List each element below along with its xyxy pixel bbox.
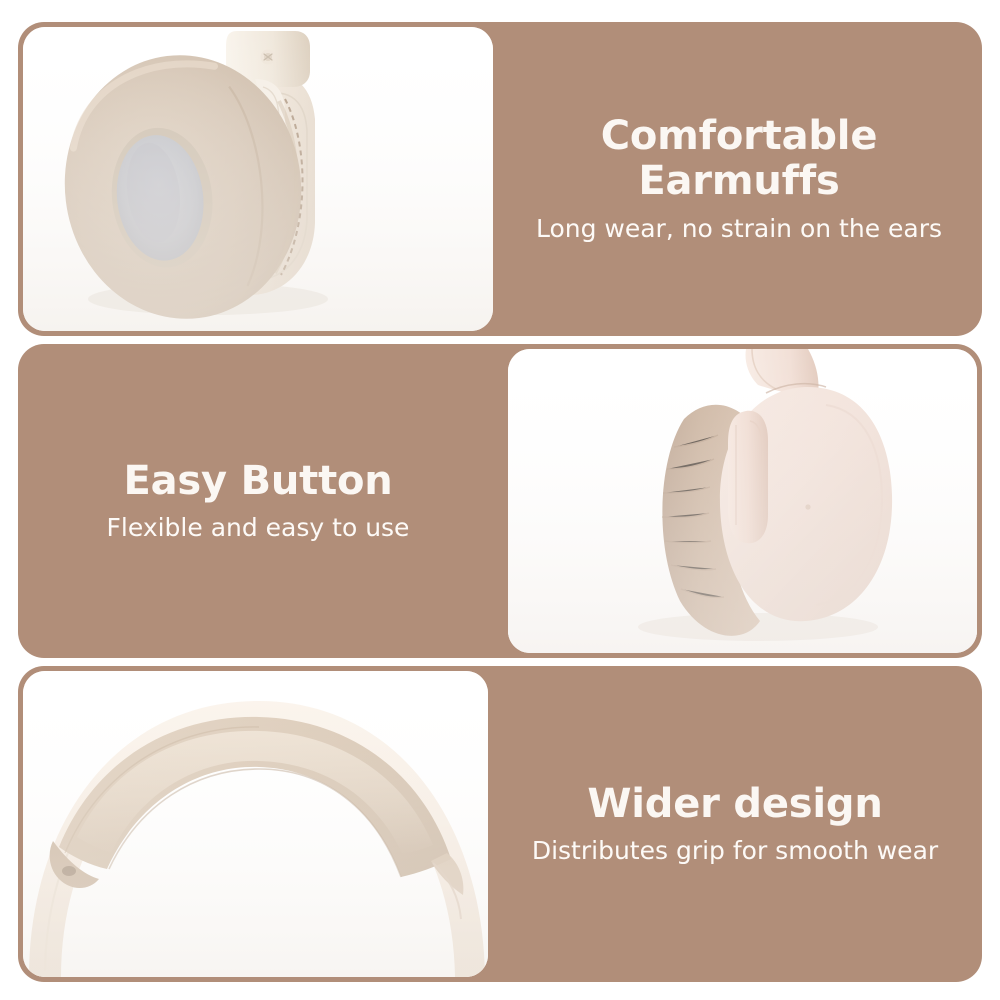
product-photo-earcup-inner (23, 27, 493, 331)
feature-title-wider-design: Wider design (488, 782, 982, 827)
feature-panel-easy-button: Easy Button Flexible and easy to use (18, 344, 982, 658)
feature-subtitle-comfortable-earmuffs: Long wear, no strain on the ears (496, 214, 982, 244)
earcup-inner-illustration (23, 27, 493, 331)
feature-subtitle-easy-button: Flexible and easy to use (18, 513, 498, 543)
feature-text-easy-button: Easy Button Flexible and easy to use (18, 344, 498, 658)
feature-text-wider-design: Wider design Distributes grip for smooth… (488, 666, 982, 982)
infographic-canvas: Comfortable Earmuffs Long wear, no strai… (0, 0, 1000, 1000)
feature-text-comfortable-earmuffs: Comfortable Earmuffs Long wear, no strai… (496, 22, 982, 336)
earcup-button-illustration (508, 349, 977, 653)
product-photo-earcup-button (508, 349, 977, 653)
feature-subtitle-wider-design: Distributes grip for smooth wear (488, 836, 982, 866)
headband-illustration (23, 671, 488, 977)
feature-title-easy-button: Easy Button (18, 459, 498, 504)
product-photo-headband (23, 671, 488, 977)
feature-panel-wider-design: Wider design Distributes grip for smooth… (18, 666, 982, 982)
feature-panel-comfortable-earmuffs: Comfortable Earmuffs Long wear, no strai… (18, 22, 982, 336)
feature-title-comfortable-earmuffs: Comfortable Earmuffs (496, 114, 982, 204)
